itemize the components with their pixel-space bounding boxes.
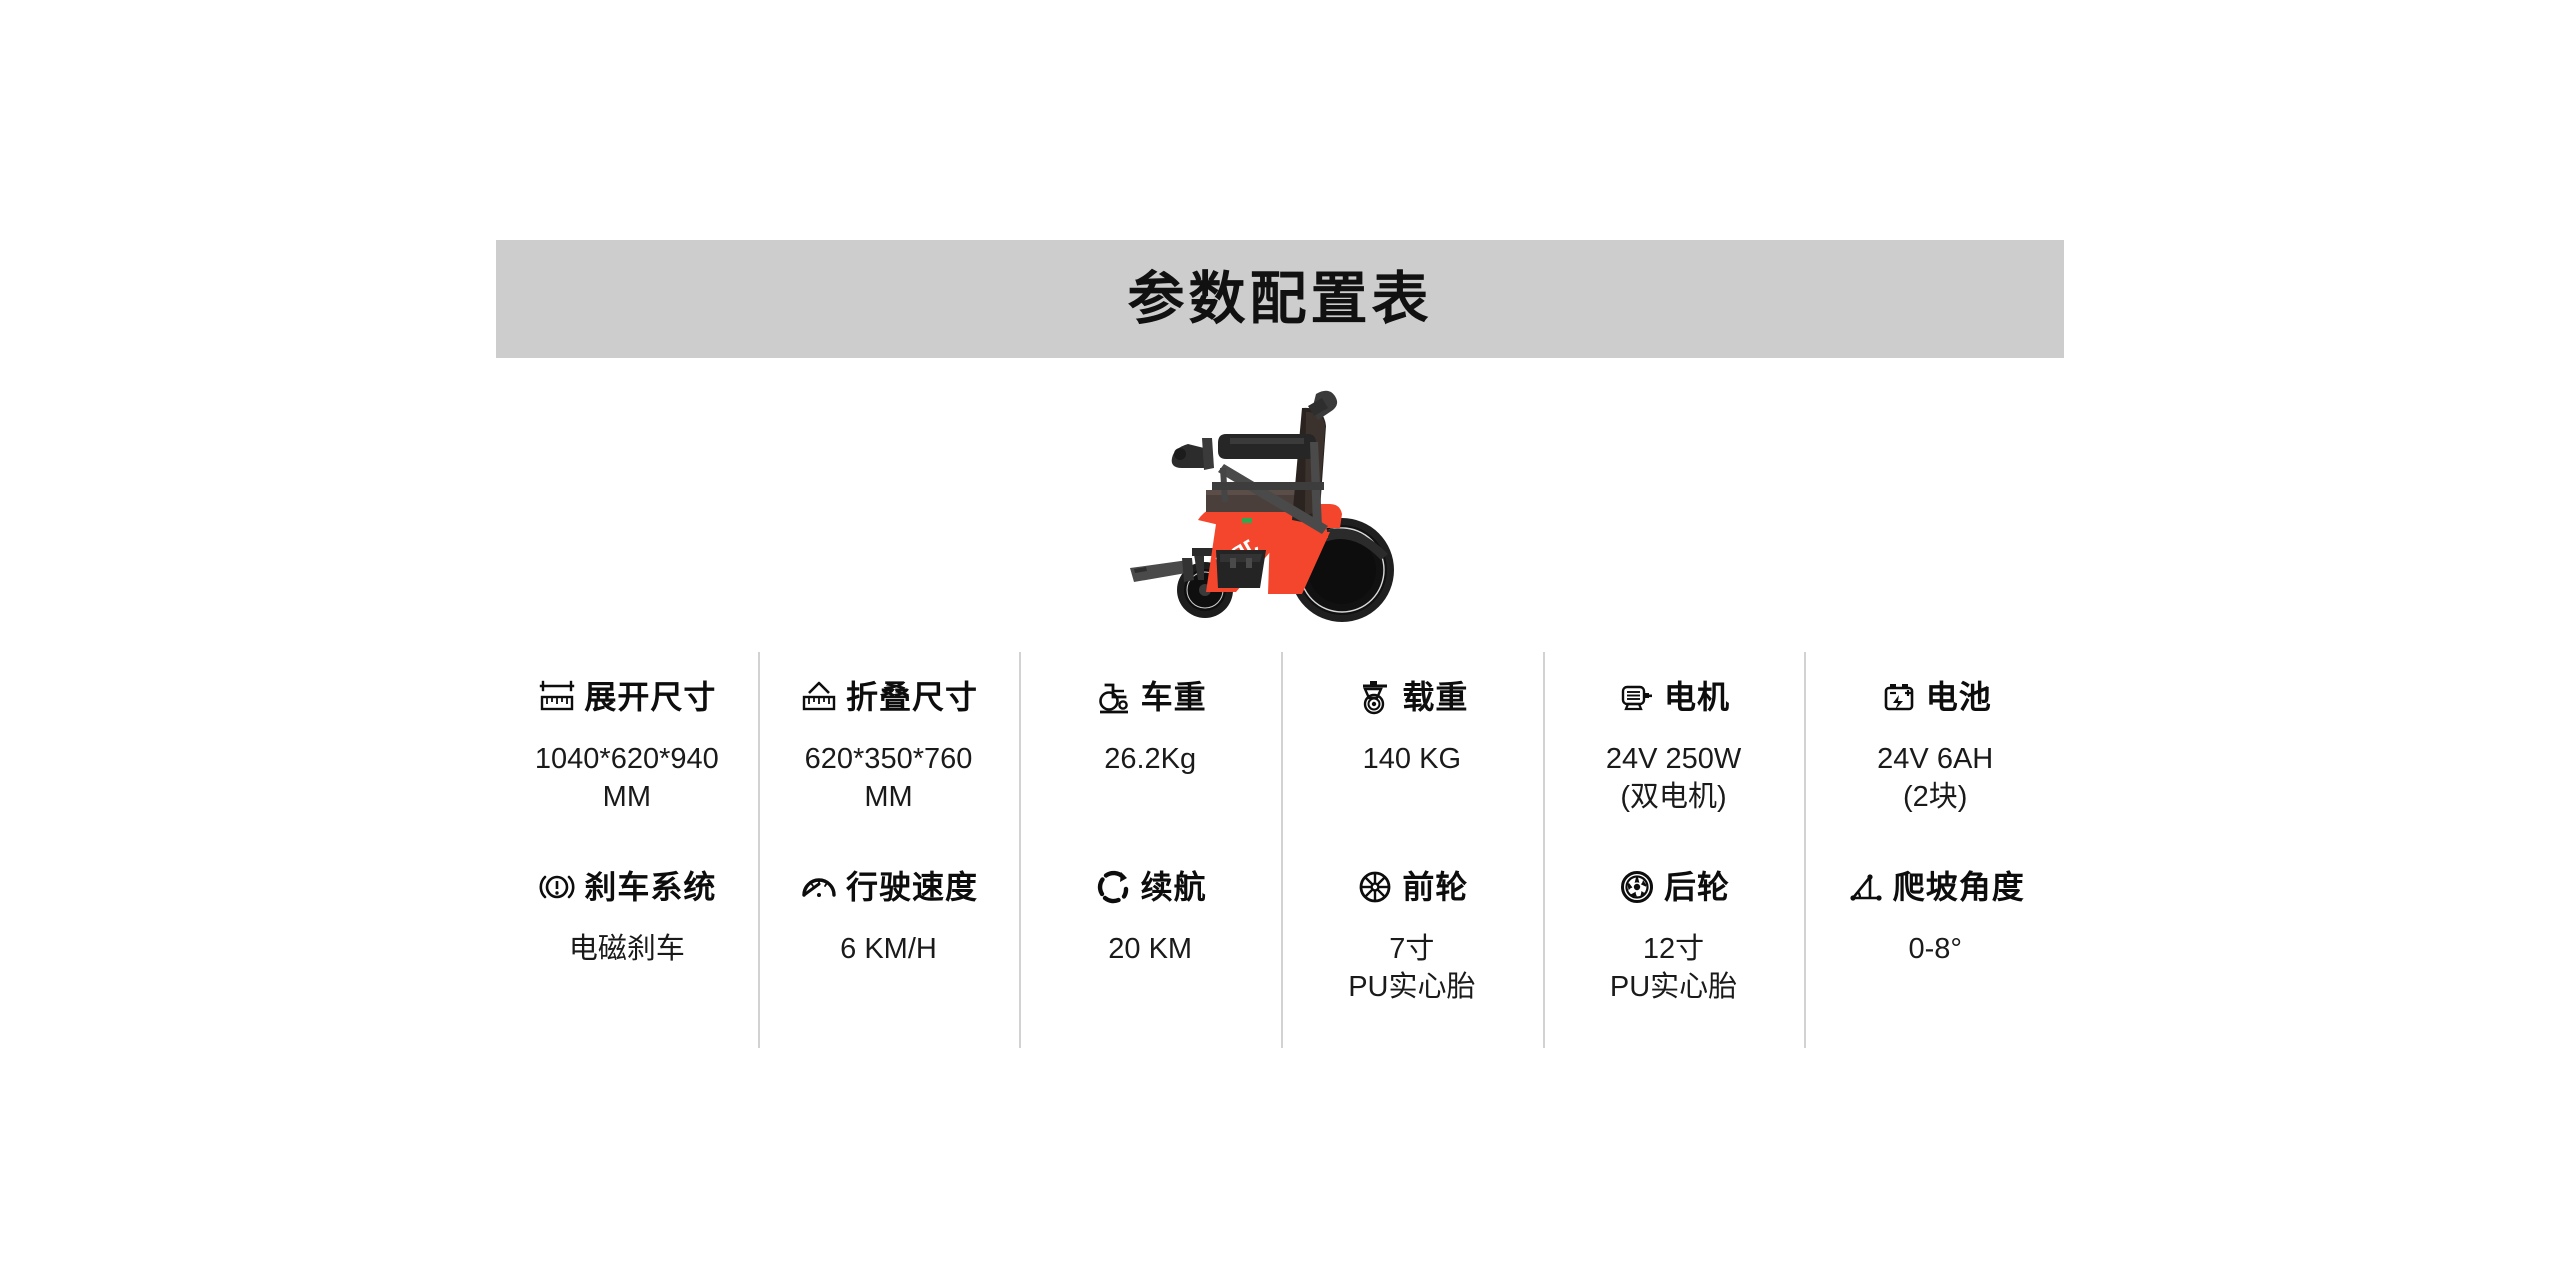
spec-head: 折叠尺寸 xyxy=(799,670,978,724)
spec-label: 爬坡角度 xyxy=(1893,871,2025,903)
spec-cell-range: 续航 20 KM xyxy=(1019,850,1281,1040)
spec-value: 24V 250W (双电机) xyxy=(1606,740,1741,817)
spec-cell-vehicle-weight: 车重 26.2Kg xyxy=(1019,660,1281,850)
spec-head: 电机 xyxy=(1617,670,1730,724)
spec-label: 车重 xyxy=(1141,681,1207,713)
spec-value: 140 KG xyxy=(1363,740,1461,778)
spec-value: 1040*620*940 MM xyxy=(535,740,719,817)
spec-cell-load-capacity: 载重 140 KG xyxy=(1281,660,1543,850)
spec-head: 后轮 xyxy=(1617,860,1730,914)
spec-cell-climbing-angle: 爬坡角度 0-8° xyxy=(1804,850,2066,1040)
spec-value: 24V 6AH (2块) xyxy=(1877,740,1993,817)
spec-label: 电机 xyxy=(1664,681,1730,713)
spec-label: 后轮 xyxy=(1664,871,1730,903)
product-image-wheelchair: JBH xyxy=(1120,372,1450,642)
spec-cell-front-wheel: 前轮 7寸 PU实心胎 xyxy=(1281,850,1543,1040)
spec-label: 前轮 xyxy=(1402,871,1468,903)
spec-cell-rear-wheel: 后轮 12寸 PU实心胎 xyxy=(1543,850,1805,1040)
spec-cell-battery: 电池 24V 6AH (2块) xyxy=(1804,660,2066,850)
spec-value: 12寸 PU实心胎 xyxy=(1610,930,1737,1007)
battery-icon xyxy=(1879,677,1919,717)
spec-value: 26.2Kg xyxy=(1104,740,1196,778)
spec-cell-driving-speed: 行驶速度 6 KM/H xyxy=(758,850,1020,1040)
range-loop-icon xyxy=(1094,867,1134,907)
spec-head: 电池 xyxy=(1879,670,1992,724)
spec-label: 刹车系统 xyxy=(584,871,716,903)
wheelchair-icon xyxy=(1094,677,1134,717)
spec-head: 前轮 xyxy=(1355,860,1468,914)
speedometer-icon xyxy=(799,867,839,907)
spec-value: 20 KM xyxy=(1108,930,1192,968)
caster-load-icon xyxy=(1355,677,1395,717)
spec-head: 展开尺寸 xyxy=(537,670,716,724)
spec-value: 7寸 PU实心胎 xyxy=(1348,930,1475,1007)
spec-row-2: 刹车系统 电磁刹车 xyxy=(496,850,2066,1040)
incline-angle-icon xyxy=(1846,867,1886,907)
spec-label: 折叠尺寸 xyxy=(846,681,978,713)
spec-sheet-page: 参数配置表 xyxy=(0,0,2560,1265)
spec-label: 载重 xyxy=(1402,681,1468,713)
page-title: 参数配置表 xyxy=(1128,271,1433,328)
spec-cell-brake-system: 刹车系统 电磁刹车 xyxy=(496,850,758,1040)
spec-cell-motor: 电机 24V 250W (双电机) xyxy=(1543,660,1805,850)
motor-icon xyxy=(1617,677,1657,717)
brake-warning-icon xyxy=(537,867,577,907)
spec-value: 0-8° xyxy=(1908,930,1962,968)
spec-head: 爬坡角度 xyxy=(1846,860,2025,914)
spec-value: 6 KM/H xyxy=(840,930,937,968)
spec-label: 电池 xyxy=(1926,681,1992,713)
ruler-expand-icon xyxy=(537,677,577,717)
spec-cell-folded-size: 折叠尺寸 620*350*760 MM xyxy=(758,660,1020,850)
spec-value: 电磁刹车 xyxy=(569,930,685,968)
spec-head: 车重 xyxy=(1094,670,1207,724)
spec-row-1: 展开尺寸 1040*620*940 MM xyxy=(496,660,2066,850)
spec-head: 刹车系统 xyxy=(537,860,716,914)
spec-label: 续航 xyxy=(1141,871,1207,903)
spec-head: 行驶速度 xyxy=(799,860,978,914)
spec-head: 续航 xyxy=(1094,860,1207,914)
spec-label: 行驶速度 xyxy=(846,871,978,903)
spec-label: 展开尺寸 xyxy=(584,681,716,713)
ruler-fold-icon xyxy=(799,677,839,717)
rear-wheel-icon xyxy=(1617,867,1657,907)
spec-head: 载重 xyxy=(1355,670,1468,724)
spec-cell-unfolded-size: 展开尺寸 1040*620*940 MM xyxy=(496,660,758,850)
spec-value: 620*350*760 MM xyxy=(805,740,973,817)
front-wheel-icon xyxy=(1355,867,1395,907)
title-banner: 参数配置表 xyxy=(496,240,2064,358)
spec-table: 展开尺寸 1040*620*940 MM xyxy=(496,660,2066,1040)
